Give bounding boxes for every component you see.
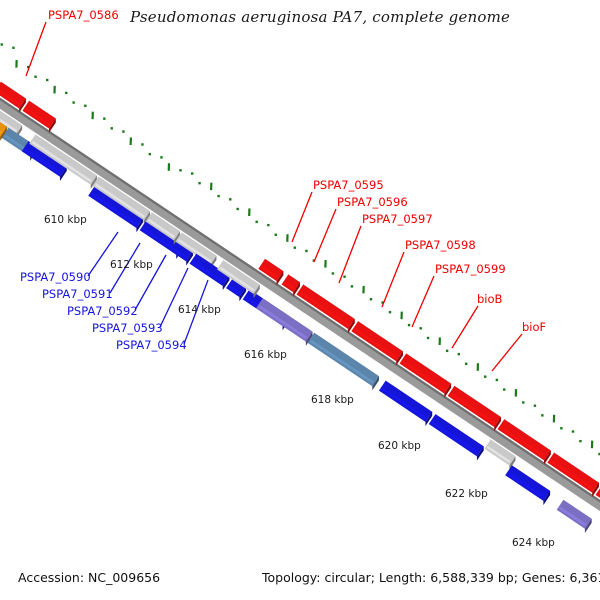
tick-mark bbox=[267, 224, 269, 226]
gene-label-pspa7_0599[interactable]: PSPA7_0599 bbox=[435, 262, 506, 276]
tick-mark bbox=[305, 250, 307, 252]
tick-mark bbox=[503, 388, 505, 390]
gene-label-biof[interactable]: bioF bbox=[522, 320, 546, 334]
tick-mark bbox=[149, 153, 151, 155]
tick-mark bbox=[427, 337, 429, 339]
tick-mark bbox=[191, 172, 193, 174]
callout-leader-line bbox=[160, 268, 188, 327]
callout-leader-line bbox=[452, 306, 478, 348]
tick-mark bbox=[534, 405, 536, 407]
callout-leader-line bbox=[292, 192, 312, 242]
axis-tick-label: 614 kbp bbox=[178, 304, 221, 316]
gene-feature[interactable] bbox=[557, 500, 592, 533]
callout-leader-line bbox=[314, 209, 336, 262]
gene-label-pspa7_0591[interactable]: PSPA7_0591 bbox=[42, 287, 113, 301]
tick-mark bbox=[332, 272, 334, 274]
axis-tick-label: 624 kbp bbox=[512, 537, 555, 549]
axis-tick-label: 620 kbp bbox=[378, 440, 421, 452]
tick-mark bbox=[229, 198, 231, 200]
tick-mark bbox=[522, 401, 524, 403]
gene-label-pspa7_0593[interactable]: PSPA7_0593 bbox=[92, 321, 163, 335]
gene-label-pspa7_0592[interactable]: PSPA7_0592 bbox=[67, 304, 138, 318]
tick-mark bbox=[217, 195, 219, 197]
tick-mark bbox=[465, 363, 467, 365]
accession-text: Accession: NC_009656 bbox=[18, 570, 160, 585]
axis-tick-label: 610 kbp bbox=[44, 214, 87, 226]
tick-mark bbox=[351, 285, 353, 287]
tick-mark bbox=[122, 130, 124, 132]
tick-mark bbox=[236, 208, 238, 210]
tick-mark bbox=[179, 169, 181, 171]
tick-mark bbox=[572, 430, 574, 432]
tick-mark bbox=[72, 101, 74, 103]
tick-mark bbox=[275, 234, 277, 236]
tick-mark bbox=[84, 105, 86, 107]
gene-label-pspa7_0594[interactable]: PSPA7_0594 bbox=[116, 338, 187, 352]
gene-label-pspa7_0590[interactable]: PSPA7_0590 bbox=[20, 270, 91, 284]
tick-mark bbox=[198, 182, 200, 184]
tick-mark bbox=[389, 311, 391, 313]
tick-mark bbox=[579, 440, 581, 442]
gene-label-pspa7_0586[interactable]: PSPA7_0586 bbox=[48, 8, 119, 22]
tick-mark bbox=[458, 353, 460, 355]
gene-label-pspa7_0598[interactable]: PSPA7_0598 bbox=[405, 238, 476, 252]
tick-mark bbox=[34, 76, 36, 78]
tick-mark bbox=[103, 117, 105, 119]
axis-tick-label: 612 kbp bbox=[110, 259, 153, 271]
callout-leader-line bbox=[492, 334, 522, 371]
tick-mark bbox=[370, 298, 372, 300]
tick-mark bbox=[1, 43, 3, 45]
tick-mark bbox=[255, 221, 257, 223]
tick-mark bbox=[541, 414, 543, 416]
callout-leader-line bbox=[339, 226, 361, 283]
tick-mark bbox=[160, 156, 162, 158]
gene-label-pspa7_0595[interactable]: PSPA7_0595 bbox=[313, 178, 384, 192]
tick-mark bbox=[496, 379, 498, 381]
tick-mark bbox=[560, 427, 562, 429]
gene-label-pspa7_0596[interactable]: PSPA7_0596 bbox=[337, 195, 408, 209]
callout-leader-line bbox=[412, 276, 434, 327]
tick-mark bbox=[294, 246, 296, 248]
tick-mark bbox=[420, 327, 422, 329]
tick-mark bbox=[65, 92, 67, 94]
tick-mark bbox=[141, 143, 143, 145]
gene-label-pspa7_0597[interactable]: PSPA7_0597 bbox=[362, 212, 433, 226]
callout-leader-line bbox=[26, 22, 46, 76]
genome-summary-text: Topology: circular; Length: 6,588,339 bp… bbox=[262, 570, 600, 585]
gene-layer bbox=[0, 82, 600, 568]
tick-mark bbox=[343, 276, 345, 278]
tick-mark bbox=[111, 127, 113, 129]
axis-tick-label: 622 kbp bbox=[445, 488, 488, 500]
gene-label-biob[interactable]: bioB bbox=[477, 292, 502, 306]
axis-tick-label: 616 kbp bbox=[244, 349, 287, 361]
tick-mark bbox=[446, 350, 448, 352]
callout-leader-line bbox=[382, 252, 404, 307]
tick-mark bbox=[12, 47, 14, 49]
genome-map-viewer: Pseudomonas aeruginosa PA7, complete gen… bbox=[0, 0, 600, 600]
tick-mark bbox=[484, 375, 486, 377]
tick-mark bbox=[408, 324, 410, 326]
axis-tick-label: 618 kbp bbox=[311, 394, 354, 406]
tick-mark bbox=[46, 79, 48, 81]
